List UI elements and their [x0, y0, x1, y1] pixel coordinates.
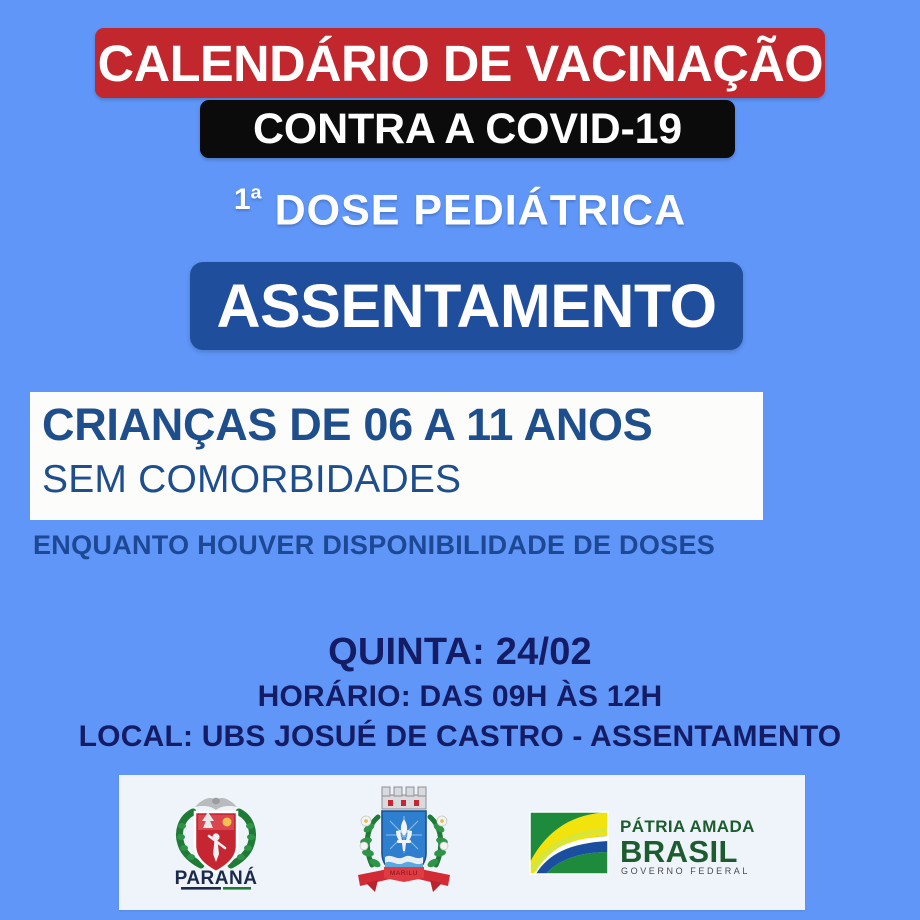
brasil-logo-line3: GOVERNO FEDERAL	[621, 866, 750, 876]
municipal-coat-of-arms: MARILU	[344, 783, 464, 903]
audience-secondary-text: SEM COMORBIDADES	[42, 460, 461, 499]
brasil-federal-government-logo: PÁTRIA AMADA BRASIL GOVERNO FEDERAL	[528, 802, 773, 884]
availability-note: ENQUANTO HOUVER DISPONIBILIDADE DE DOSES	[33, 532, 715, 559]
headline-primary-text: CALENDÁRIO DE VACINAÇÃO	[97, 38, 822, 89]
headline-primary-banner: CALENDÁRIO DE VACINAÇÃO	[95, 28, 825, 98]
coat-of-arms-ribbon-text: MARILU	[390, 870, 418, 877]
svg-text:PARANÁ: PARANÁ	[174, 867, 257, 889]
schedule-time: HORÁRIO: DAS 09H ÀS 12H	[0, 675, 920, 719]
dose-label-text: DOSE PEDIÁTRICA	[262, 186, 687, 234]
brasil-logo-line2: BRASIL	[620, 834, 738, 869]
footer-logo-bar: PARANÁ	[119, 775, 805, 910]
dose-ordinal: 1ª	[234, 183, 262, 216]
schedule-block: QUINTA: 24/02 HORÁRIO: DAS 09H ÀS 12H LO…	[0, 630, 920, 756]
vaccination-calendar-poster: CALENDÁRIO DE VACINAÇÃO CONTRA A COVID-1…	[0, 0, 920, 920]
headline-secondary-banner: CONTRA A COVID-19	[200, 100, 735, 158]
schedule-place: LOCAL: UBS JOSUÉ DE CASTRO - ASSENTAMENT…	[0, 718, 920, 756]
location-banner: ASSENTAMENTO	[190, 262, 743, 350]
audience-box: CRIANÇAS DE 06 A 11 ANOS SEM COMORBIDADE…	[30, 392, 763, 520]
parana-government-logo: PARANÁ	[151, 788, 281, 898]
audience-primary-text: CRIANÇAS DE 06 A 11 ANOS	[42, 402, 652, 447]
dose-label: 1ª DOSE PEDIÁTRICA	[0, 185, 920, 232]
schedule-day: QUINTA: 24/02	[0, 630, 920, 675]
location-banner-text: ASSENTAMENTO	[216, 276, 716, 337]
headline-secondary-text: CONTRA A COVID-19	[253, 108, 682, 151]
